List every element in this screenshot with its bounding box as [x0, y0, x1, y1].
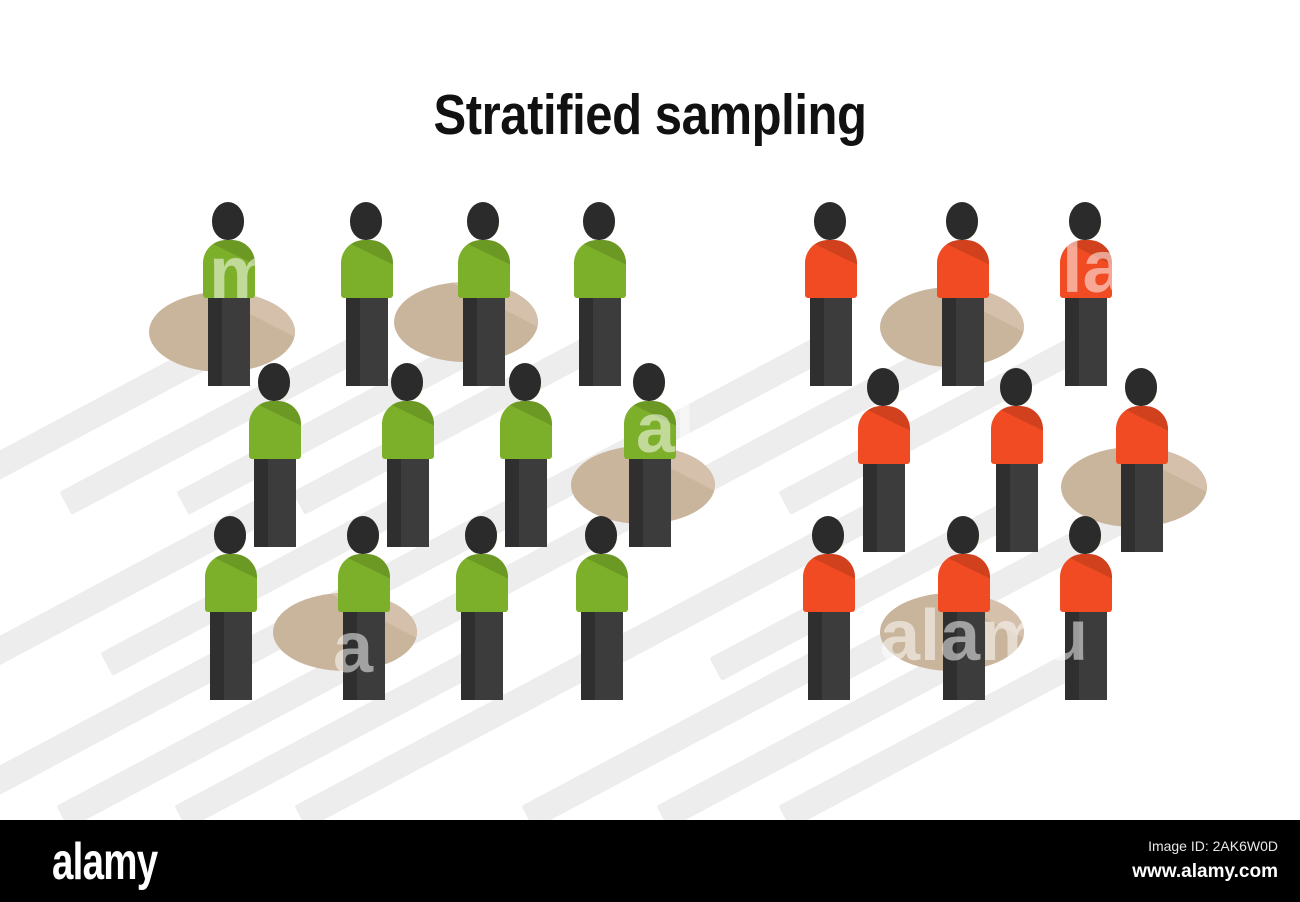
illustration-canvas: Stratified sampling malalaalamu: [0, 0, 1300, 820]
legs-shade: [810, 298, 824, 386]
person-legs: [943, 612, 985, 700]
person-torso: [937, 240, 989, 298]
person-torso: [456, 554, 508, 612]
person-hair: [583, 202, 615, 240]
legs-shade: [1065, 298, 1079, 386]
person-hair: [350, 202, 382, 240]
person-figure-sampled: [937, 202, 989, 386]
person-torso: [574, 240, 626, 298]
person-hair: [212, 202, 244, 240]
person-torso: [991, 406, 1043, 464]
legs-shade: [579, 298, 593, 386]
person-torso: [938, 554, 990, 612]
person-torso: [1060, 554, 1112, 612]
person-figure-sampled: [1116, 368, 1168, 552]
person-head: [867, 368, 903, 408]
person-head: [509, 363, 545, 403]
legs-shade: [942, 298, 956, 386]
person-hair: [1069, 516, 1101, 554]
person-figure: [341, 202, 393, 386]
person-head: [212, 202, 248, 242]
alamy-logo: alamy: [52, 836, 157, 888]
person-torso: [624, 401, 676, 459]
person-hair: [633, 363, 665, 401]
person-head: [391, 363, 427, 403]
person-head: [583, 202, 619, 242]
person-legs: [387, 459, 429, 547]
legs-shade: [863, 464, 877, 552]
person-hair: [1125, 368, 1157, 406]
legs-shade: [1065, 612, 1079, 700]
person-legs: [208, 298, 250, 386]
person-figure: [858, 368, 910, 552]
legs-shade: [581, 612, 595, 700]
person-figure-sampled: [458, 202, 510, 386]
person-figure-sampled: [203, 202, 255, 386]
person-hair: [467, 202, 499, 240]
person-head: [1069, 516, 1105, 556]
person-head: [814, 202, 850, 242]
legs-shade: [461, 612, 475, 700]
person-legs: [343, 612, 385, 700]
person-legs: [581, 612, 623, 700]
person-head: [1069, 202, 1105, 242]
person-torso: [805, 240, 857, 298]
legs-shade: [996, 464, 1010, 552]
person-head: [812, 516, 848, 556]
person-figure-sampled: [624, 363, 676, 547]
person-hair: [258, 363, 290, 401]
person-figure: [574, 202, 626, 386]
person-head: [585, 516, 621, 556]
person-head: [258, 363, 294, 403]
person-figure: [991, 368, 1043, 552]
person-legs: [1121, 464, 1163, 552]
person-torso: [249, 401, 301, 459]
person-head: [1000, 368, 1036, 408]
person-head: [946, 202, 982, 242]
legs-shade: [208, 298, 222, 386]
person-legs: [863, 464, 905, 552]
person-figure: [205, 516, 257, 700]
person-legs: [1065, 298, 1107, 386]
person-hair: [214, 516, 246, 554]
person-hair: [1069, 202, 1101, 240]
person-hair: [465, 516, 497, 554]
person-legs: [996, 464, 1038, 552]
person-hair: [509, 363, 541, 401]
alamy-footer-bar: alamy Image ID: 2AK6W0D www.alamy.com: [0, 820, 1300, 902]
legs-shade: [346, 298, 360, 386]
person-hair: [347, 516, 379, 554]
person-figure-sampled: [938, 516, 990, 700]
person-legs: [463, 298, 505, 386]
person-legs: [808, 612, 850, 700]
person-head: [347, 516, 383, 556]
person-head: [465, 516, 501, 556]
person-legs: [942, 298, 984, 386]
legs-shade: [808, 612, 822, 700]
person-torso: [341, 240, 393, 298]
person-figure-sampled: [338, 516, 390, 700]
person-hair: [947, 516, 979, 554]
person-torso: [1116, 406, 1168, 464]
legs-shade: [1121, 464, 1135, 552]
person-figure: [803, 516, 855, 700]
person-legs: [461, 612, 503, 700]
person-torso: [500, 401, 552, 459]
image-id-label: Image ID: 2AK6W0D: [1148, 838, 1278, 854]
person-legs: [505, 459, 547, 547]
legs-shade: [463, 298, 477, 386]
legs-shade: [629, 459, 643, 547]
person-hair: [391, 363, 423, 401]
legs-shade: [210, 612, 224, 700]
person-torso: [576, 554, 628, 612]
person-head: [633, 363, 669, 403]
person-legs: [579, 298, 621, 386]
person-head: [947, 516, 983, 556]
person-figure: [456, 516, 508, 700]
legs-shade: [343, 612, 357, 700]
person-head: [467, 202, 503, 242]
person-torso: [338, 554, 390, 612]
person-hair: [812, 516, 844, 554]
person-torso: [803, 554, 855, 612]
person-figure: [1060, 516, 1112, 700]
person-hair: [1000, 368, 1032, 406]
person-torso: [458, 240, 510, 298]
person-torso: [205, 554, 257, 612]
person-hair: [946, 202, 978, 240]
person-head: [1125, 368, 1161, 408]
person-figure: [576, 516, 628, 700]
person-torso: [203, 240, 255, 298]
person-hair: [585, 516, 617, 554]
alamy-url-label: www.alamy.com: [1132, 861, 1278, 883]
person-legs: [629, 459, 671, 547]
person-head: [350, 202, 386, 242]
person-legs: [1065, 612, 1107, 700]
person-figure-layer: [0, 0, 1300, 820]
person-hair: [867, 368, 899, 406]
person-torso: [858, 406, 910, 464]
person-figure: [1060, 202, 1112, 386]
person-legs: [810, 298, 852, 386]
person-legs: [210, 612, 252, 700]
person-head: [214, 516, 250, 556]
person-torso: [382, 401, 434, 459]
person-legs: [254, 459, 296, 547]
person-torso: [1060, 240, 1112, 298]
person-figure: [805, 202, 857, 386]
legs-shade: [943, 612, 957, 700]
person-hair: [814, 202, 846, 240]
